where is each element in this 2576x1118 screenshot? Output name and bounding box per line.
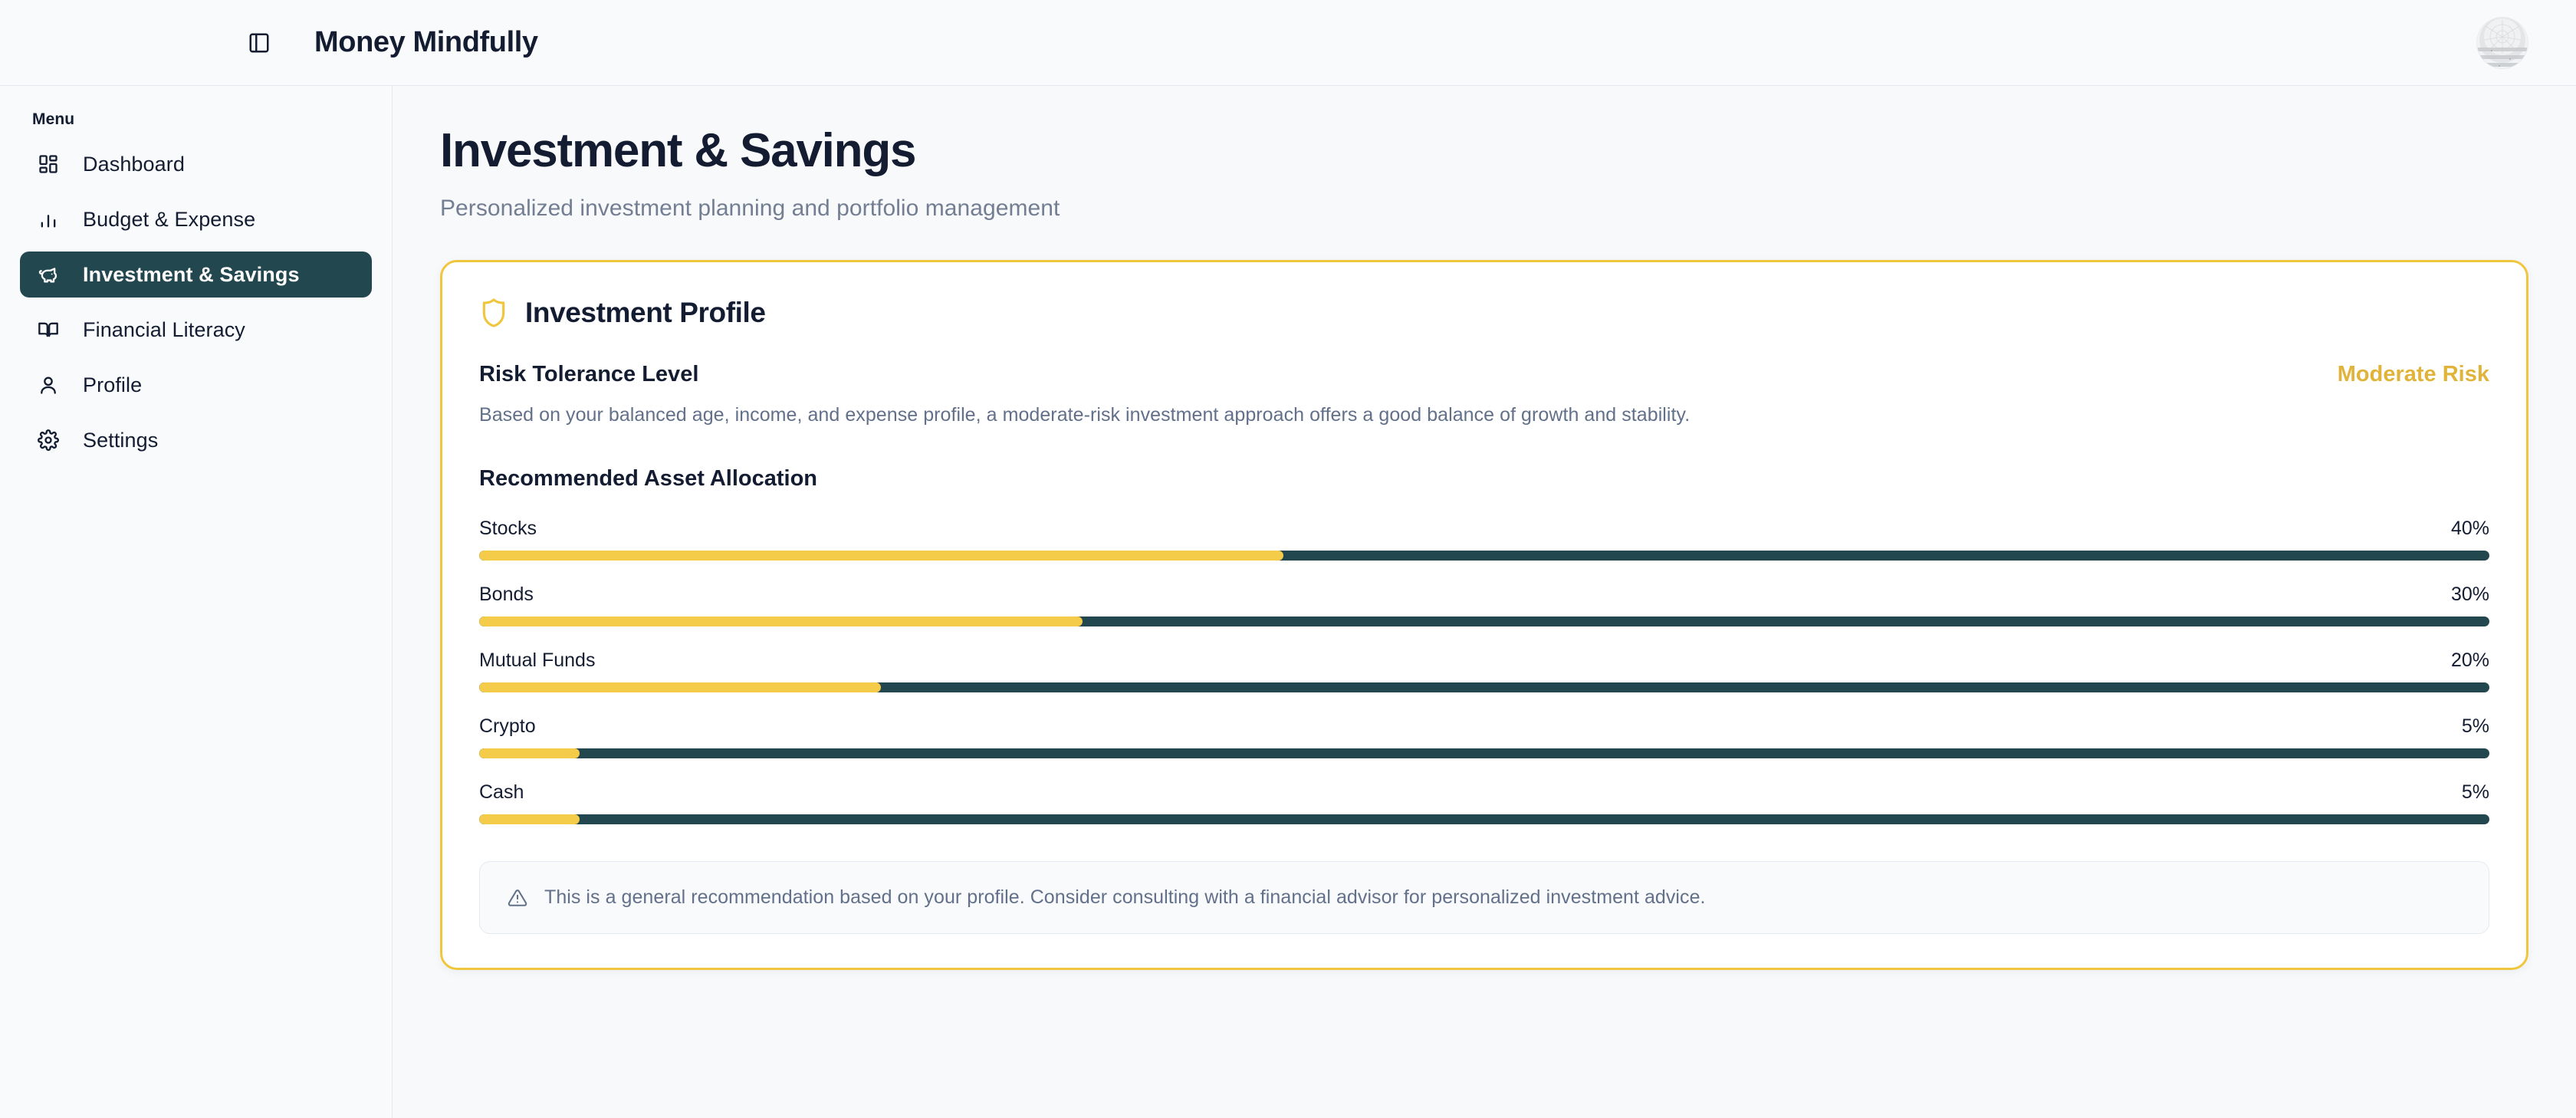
allocation-label: Bonds [479, 584, 534, 606]
book-open-icon [35, 317, 61, 343]
sidebar-item-label: Profile [83, 373, 142, 397]
allocation-percent: 20% [2451, 649, 2489, 672]
allocation-percent: 30% [2451, 584, 2489, 606]
status-badge: Moderate Risk [2338, 362, 2489, 387]
user-icon [35, 372, 61, 398]
sidebar-item-label: Dashboard [83, 153, 185, 176]
allocation-label: Cash [479, 781, 524, 804]
allocation-percent: 5% [2462, 715, 2489, 738]
allocation-percent: 40% [2451, 518, 2489, 540]
top-bar: Money Mindfully [0, 0, 2576, 86]
allocation-progress-track [479, 814, 2489, 824]
page-subtitle: Personalized investment planning and por… [440, 196, 2528, 222]
allocation-progress-fill [479, 617, 1083, 626]
gear-icon [35, 427, 61, 453]
allocation-progress-track [479, 748, 2489, 758]
allocation-row: Stocks 40% [479, 518, 2489, 561]
allocation-percent: 5% [2462, 781, 2489, 804]
shield-icon [479, 296, 508, 330]
sidebar-item-label: Investment & Savings [83, 263, 300, 287]
allocation-label: Mutual Funds [479, 649, 595, 672]
allocation-row-header: Stocks 40% [479, 518, 2489, 540]
card-title: Investment Profile [525, 297, 766, 329]
allocation-row: Cash 5% [479, 781, 2489, 824]
allocation-heading: Recommended Asset Allocation [479, 466, 2489, 492]
top-bar-left: Money Mindfully [0, 26, 538, 59]
risk-tolerance-heading: Risk Tolerance Level [479, 362, 698, 387]
allocation-row-header: Bonds 30% [479, 584, 2489, 606]
sidebar-item-dashboard[interactable]: Dashboard [20, 141, 372, 187]
sidebar-item-budget-expense[interactable]: Budget & Expense [20, 196, 372, 242]
allocation-row-header: Cash 5% [479, 781, 2489, 804]
allocation-progress-track [479, 617, 2489, 626]
allocation-progress-fill [479, 682, 881, 692]
sidebar-section-label: Menu [20, 110, 372, 141]
top-bar-right [2476, 17, 2528, 69]
sidebar: Menu Dashboard Budget & Expense [0, 86, 393, 1118]
bar-chart-icon [35, 206, 61, 232]
sidebar-item-label: Budget & Expense [83, 208, 255, 232]
sidebar-item-profile[interactable]: Profile [20, 362, 372, 408]
risk-tolerance-description: Based on your balanced age, income, and … [479, 404, 2489, 426]
main-content: Investment & Savings Personalized invest… [393, 86, 2576, 1118]
allocation-progress-track [479, 682, 2489, 692]
allocation-label: Crypto [479, 715, 536, 738]
panel-left-icon[interactable] [244, 28, 274, 58]
sidebar-item-label: Settings [83, 429, 158, 452]
risk-tolerance-row: Risk Tolerance Level Moderate Risk [479, 362, 2489, 387]
alert-triangle-icon [508, 888, 527, 908]
layout-grid-icon [35, 151, 61, 177]
piggy-bank-icon [35, 261, 61, 288]
sidebar-item-financial-literacy[interactable]: Financial Literacy [20, 307, 372, 353]
allocation-progress-fill [479, 551, 1283, 561]
allocation-row-header: Mutual Funds 20% [479, 649, 2489, 672]
investment-profile-card: Investment Profile Risk Tolerance Level … [440, 260, 2528, 970]
disclaimer-text: This is a general recommendation based o… [544, 886, 1706, 909]
brand-title: Money Mindfully [314, 26, 538, 59]
allocation-progress-fill [479, 814, 580, 824]
sidebar-item-label: Financial Literacy [83, 318, 245, 342]
app-shell: Menu Dashboard Budget & Expense [0, 86, 2576, 1118]
allocation-row: Bonds 30% [479, 584, 2489, 626]
avatar[interactable] [2476, 17, 2528, 69]
allocation-progress-fill [479, 748, 580, 758]
card-header: Investment Profile [479, 296, 2489, 330]
allocation-row-header: Crypto 5% [479, 715, 2489, 738]
page-title: Investment & Savings [440, 126, 2528, 176]
disclaimer-banner: This is a general recommendation based o… [479, 861, 2489, 934]
sidebar-item-investment-savings[interactable]: Investment & Savings [20, 252, 372, 298]
allocation-row: Crypto 5% [479, 715, 2489, 758]
allocation-progress-track [479, 551, 2489, 561]
allocation-row: Mutual Funds 20% [479, 649, 2489, 692]
allocation-label: Stocks [479, 518, 537, 540]
sidebar-item-settings[interactable]: Settings [20, 417, 372, 463]
